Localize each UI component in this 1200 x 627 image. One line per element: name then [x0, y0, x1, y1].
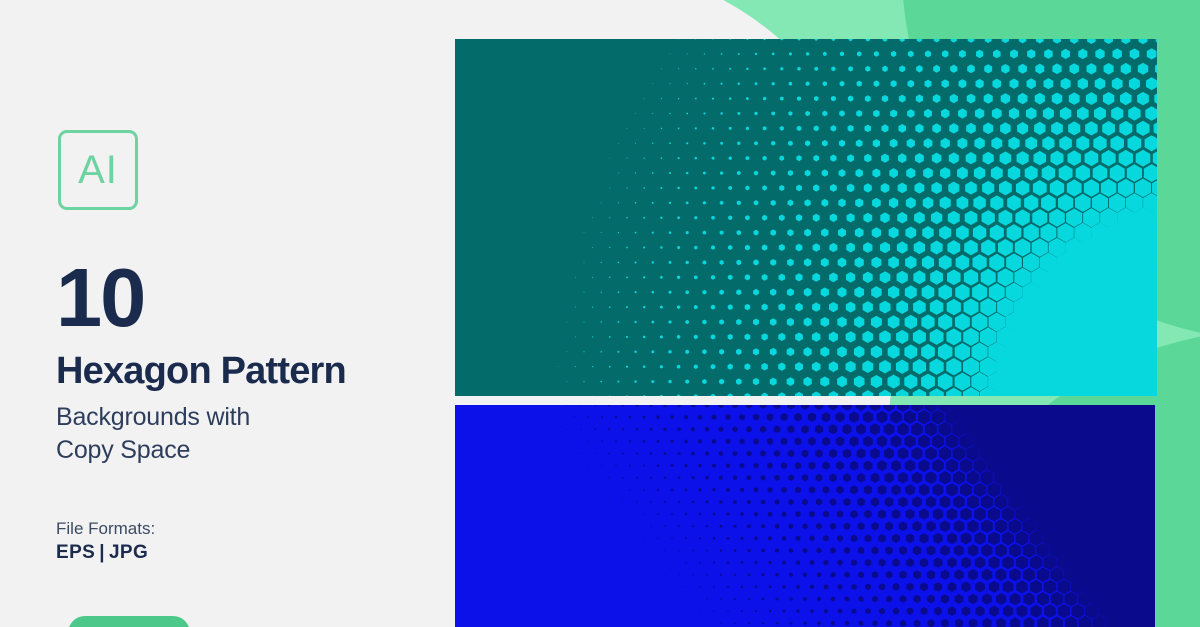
- file-formats-label: File Formats:: [56, 518, 155, 540]
- page-subtitle: Backgrounds with Copy Space: [56, 401, 250, 466]
- preview-canvas: AI 10 Hexagon Pattern Backgrounds with C…: [0, 0, 1200, 627]
- ai-badge-label: AI: [78, 150, 118, 190]
- format-separator: |: [95, 542, 109, 563]
- blue-hexagon-card: [455, 405, 1155, 627]
- item-count: 10: [56, 256, 144, 339]
- page-title: Hexagon Pattern: [56, 352, 346, 390]
- subtitle-line-2: Copy Space: [56, 434, 250, 467]
- subtitle-line-1: Backgrounds with: [56, 401, 250, 434]
- info-panel: AI 10 Hexagon Pattern Backgrounds with C…: [0, 0, 455, 627]
- ai-format-badge: AI: [58, 130, 138, 210]
- teal-hexagon-card: [455, 39, 1157, 396]
- format-jpg: JPG: [109, 542, 148, 563]
- format-eps: EPS: [56, 542, 95, 563]
- file-formats-value: EPS|JPG: [56, 541, 148, 566]
- cta-pill-button[interactable]: [68, 616, 190, 627]
